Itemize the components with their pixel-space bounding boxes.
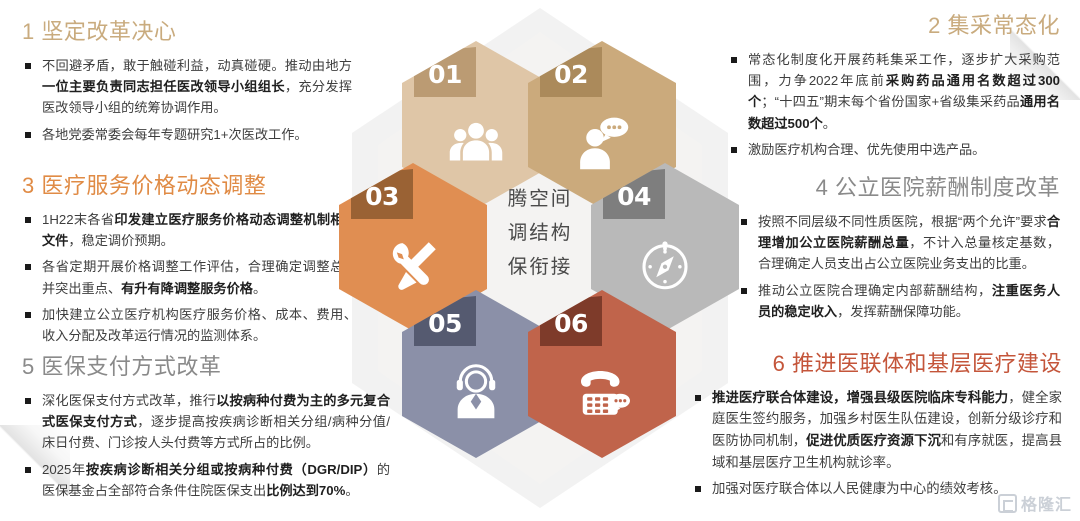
section-1-bullets: 不回避矛盾，敢于触碰利益，动真碰硬。推动由地方一位主要负责同志担任医改领导小组组… <box>22 55 352 146</box>
list-item: 各省定期开展价格调整工作评估，合理确定调整总量并突出重点、有升有降调整服务价格。 <box>22 256 357 299</box>
section-5-bullets: 深化医保支付方式改革，推行以按病种付费为主的多元复合式医保支付方式，逐步提高按疾… <box>22 390 390 502</box>
gelonghui-logo-icon <box>998 494 1017 513</box>
telephone-icon <box>528 364 676 420</box>
section-1-title: 1 坚定改革决心 <box>22 18 352 46</box>
hexagon-01-number-tab: 01 <box>414 47 476 97</box>
list-item: 各地党委常委会每年专题研究1+次医改工作。 <box>22 124 352 145</box>
section-4-bullets: 按照不同层级不同性质医院，根据“两个允许”要求合理增加公立医院薪酬总量，不计入总… <box>738 211 1060 323</box>
watermark-text: 格隆汇 <box>1021 491 1072 515</box>
list-item: 2025年按疾病诊断相关分组或按病种付费（DGR/DIP）的医保基金占全部符合条… <box>22 459 390 502</box>
center-slogan-line-3: 保衔接 <box>465 250 615 284</box>
section-2-bullets: 常态化制度化开展药耗集采工作，逐步扩大采购范围，力争2022年底前采购药品通用名… <box>728 49 1060 161</box>
center-slogan: 腾空间 调结构 保衔接 <box>465 182 615 284</box>
list-item: 常态化制度化开展药耗集采工作，逐步扩大采购范围，力争2022年底前采购药品通用名… <box>728 49 1060 135</box>
section-6-title: 6 推进医联体和基层医疗建设 <box>692 350 1062 378</box>
section-2-block: 2 集采常态化 常态化制度化开展药耗集采工作，逐步扩大采购范围，力争2022年底… <box>728 12 1060 165</box>
hexagon-01-number: 01 <box>428 60 462 89</box>
section-3-title: 3 医疗服务价格动态调整 <box>22 172 357 200</box>
list-item: 1H22末各省印发建立医疗服务价格动态调整机制相关文件，稳定调价预期。 <box>22 209 357 252</box>
section-1-block: 1 坚定改革决心 不回避矛盾，敢于触碰利益，动真碰硬。推动由地方一位主要负责同志… <box>22 18 352 150</box>
list-item: 推动公立医院合理确定内部薪酬结构，注重医务人员的稳定收入，发挥薪酬保障功能。 <box>738 280 1060 323</box>
section-3-block: 3 医疗服务价格动态调整 1H22末各省印发建立医疗服务价格动态调整机制相关文件… <box>22 172 357 352</box>
section-4-block: 4 公立医院薪酬制度改革 按照不同层级不同性质医院，根据“两个允许”要求合理增加… <box>738 174 1060 327</box>
people-group-icon <box>402 115 550 171</box>
watermark: 格隆汇 <box>998 491 1072 515</box>
center-slogan-line-1: 腾空间 <box>465 182 615 216</box>
section-5-title: 5 医保支付方式改革 <box>22 353 390 381</box>
section-4-title: 4 公立医院薪酬制度改革 <box>738 174 1060 202</box>
section-3-bullets: 1H22末各省印发建立医疗服务价格动态调整机制相关文件，稳定调价预期。 各省定期… <box>22 209 357 347</box>
infographic-slide: 1 坚定改革决心 不回避矛盾，敢于触碰利益，动真碰硬。推动由地方一位主要负责同志… <box>0 0 1080 521</box>
list-item: 加快建立公立医疗机构医疗服务价格、成本、费用、收入分配及改革运行情况的监测体系。 <box>22 304 357 347</box>
list-item: 按照不同层级不同性质医院，根据“两个允许”要求合理增加公立医院薪酬总量，不计入总… <box>738 211 1060 275</box>
list-item: 激励医疗机构合理、优先使用中选产品。 <box>728 139 1060 160</box>
list-item: 推进医疗联合体建设，增强县级医院临床专科能力，健全家庭医生签约服务，加强乡村医生… <box>692 387 1062 474</box>
headset-support-icon <box>402 364 550 420</box>
section-2-title: 2 集采常态化 <box>728 12 1060 40</box>
list-item: 深化医保支付方式改革，推行以按病种付费为主的多元复合式医保支付方式，逐步提高按疾… <box>22 390 390 454</box>
section-6-block: 6 推进医联体和基层医疗建设 推进医疗联合体建设，增强县级医院临床专科能力，健全… <box>692 350 1062 505</box>
person-speech-bubble-icon <box>528 115 676 171</box>
section-5-block: 5 医保支付方式改革 深化医保支付方式改革，推行以按病种付费为主的多元复合式医保… <box>22 353 390 506</box>
section-6-bullets: 推进医疗联合体建设，增强县级医院临床专科能力，健全家庭医生签约服务，加强乡村医生… <box>692 387 1062 501</box>
center-slogan-line-2: 调结构 <box>465 216 615 250</box>
list-item: 不回避矛盾，敢于触碰利益，动真碰硬。推动由地方一位主要负责同志担任医改领导小组组… <box>22 55 352 119</box>
